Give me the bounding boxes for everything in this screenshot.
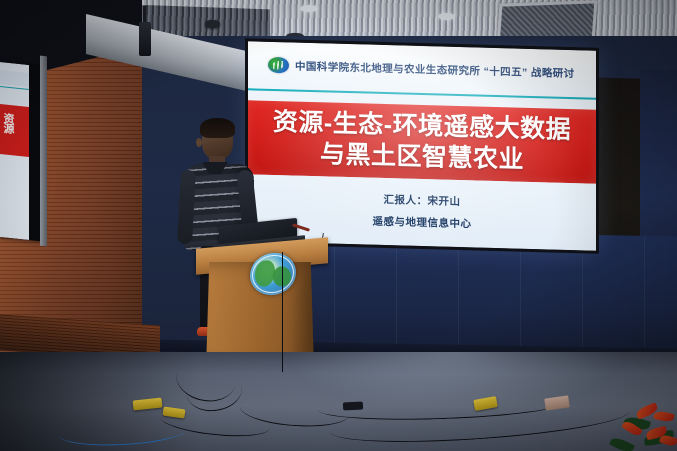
ceiling-projector	[139, 22, 151, 56]
side-slide-title-text: 资源	[2, 112, 14, 133]
side-screen-slide: 资源	[0, 62, 29, 240]
main-projection-screen: 中国科学院东北地理与农业生态研究所 “十四五” 战略研讨 资源-生态-环境遥感大…	[248, 41, 596, 250]
ceiling-light	[300, 5, 318, 12]
plant-leaf	[609, 435, 635, 451]
side-screen-frame	[40, 56, 47, 247]
floor-power-adapter	[343, 401, 363, 410]
podium-vertical-cable	[272, 252, 283, 372]
screen-bezel	[245, 38, 599, 254]
speaker-hair	[200, 118, 235, 138]
side-slide-header	[0, 70, 29, 87]
plant-flower	[653, 410, 674, 423]
ceiling-light	[438, 13, 455, 20]
red-flower-arrangement	[600, 388, 677, 451]
side-slide-title-band: 资源	[0, 104, 29, 157]
ceiling-speaker	[205, 20, 220, 28]
auxiliary-side-screen: 资源	[0, 62, 42, 241]
speaker-ear	[196, 138, 202, 147]
presentation-photo-scene: 资源 中国科学院东北地理与农业生态研究所 “十四五” 战略研讨 资源-生态-环境…	[0, 0, 677, 451]
plant-flower	[659, 433, 677, 447]
